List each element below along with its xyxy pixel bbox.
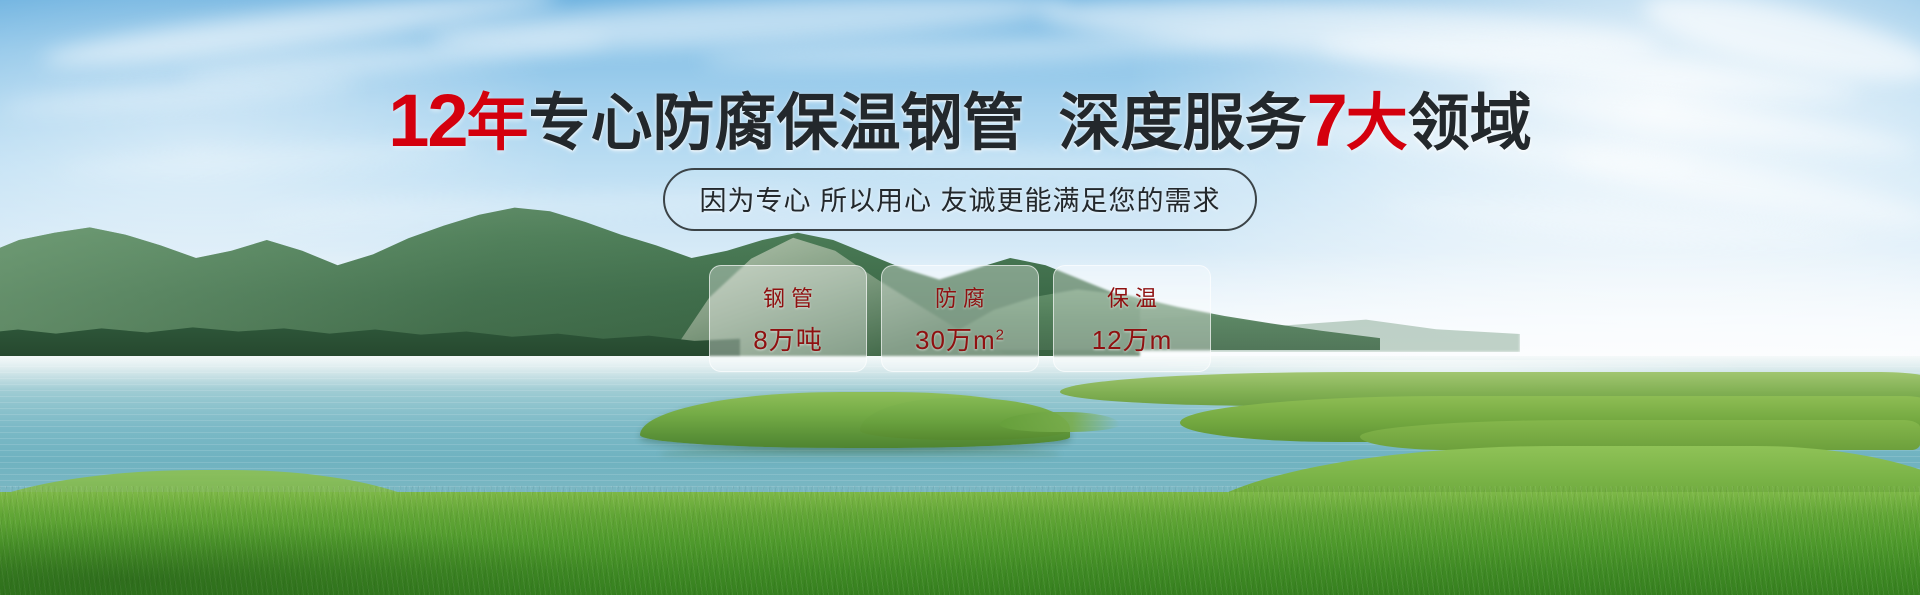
stat-card-group: 钢管 8万吨 防腐 30万m2 保温 12万m — [0, 265, 1920, 372]
headline-fields-text: 领域 — [1408, 89, 1532, 158]
headline-fields-number: 7 — [1307, 79, 1346, 162]
headline-service-text: 深度服务 — [1059, 89, 1307, 158]
headline-years-number: 12 — [388, 79, 466, 162]
stat-card-value: 12万m — [1092, 320, 1173, 357]
stat-card[interactable]: 防腐 30万m2 — [881, 265, 1039, 372]
promo-banner: 12年专心防腐保温钢管深度服务7大领域 因为专心 所以用心 友诚更能满足您的需求… — [0, 0, 1920, 595]
banner-subtitle: 因为专心 所以用心 友诚更能满足您的需求 — [663, 168, 1256, 231]
headline-fields-unit: 大 — [1346, 89, 1408, 158]
stat-card-title: 钢管 — [757, 281, 819, 313]
stat-card-value: 8万吨 — [753, 320, 822, 357]
stat-card[interactable]: 保温 12万m — [1053, 265, 1211, 372]
stat-card-value-text: 30万m — [915, 325, 996, 355]
banner-subtitle-wrap: 因为专心 所以用心 友诚更能满足您的需求 — [0, 168, 1920, 231]
headline-main-text: 专心防腐保温钢管 — [529, 89, 1025, 158]
banner-content: 12年专心防腐保温钢管深度服务7大领域 因为专心 所以用心 友诚更能满足您的需求… — [0, 0, 1920, 595]
stat-card-title: 防腐 — [929, 281, 991, 313]
stat-card-title: 保温 — [1101, 281, 1163, 313]
stat-card-value-sup: 2 — [996, 326, 1005, 343]
stat-card-value-text: 12万m — [1092, 325, 1173, 355]
headline-years-unit: 年 — [467, 89, 529, 158]
stat-card[interactable]: 钢管 8万吨 — [709, 265, 867, 372]
banner-headline: 12年专心防腐保温钢管深度服务7大领域 — [0, 84, 1920, 158]
stat-card-value-text: 8万吨 — [753, 325, 822, 355]
stat-card-value: 30万m2 — [915, 320, 1005, 357]
